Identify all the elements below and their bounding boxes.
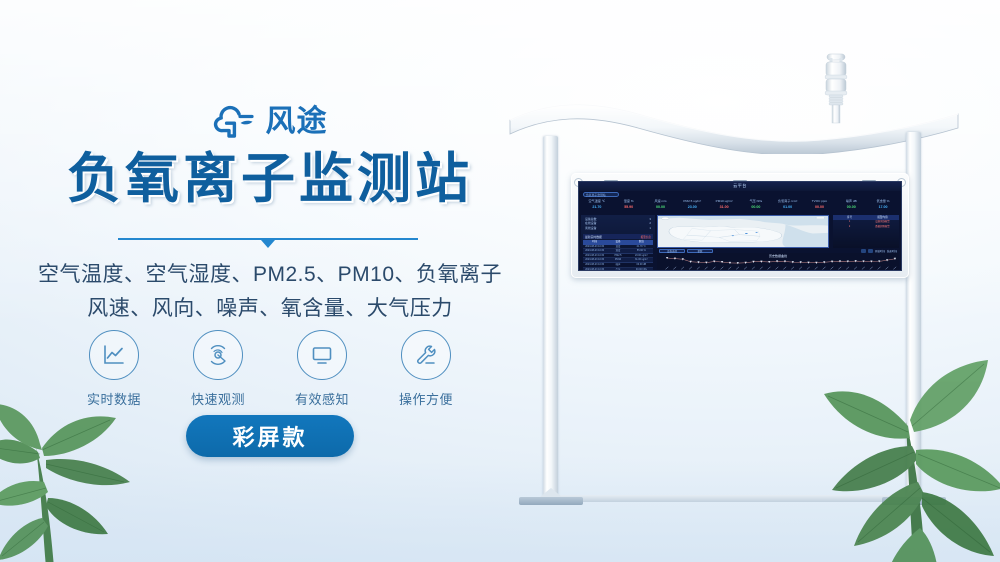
chart-tick <box>681 267 684 270</box>
monitor-screen-icon <box>309 342 335 368</box>
table-cell: 2023-08-23 10:30 <box>583 254 606 258</box>
stat-item: PM10 ug/m³31.00 <box>708 199 740 213</box>
stat-value: 00.00 <box>740 204 772 210</box>
chart-tick <box>697 267 700 270</box>
stat-value: 31.00 <box>708 204 740 210</box>
chart-title: 历史数据曲线 <box>769 254 787 258</box>
brand-logo: 风途 <box>0 100 540 144</box>
table-cell: 噪声 <box>606 263 629 267</box>
feature-icon-circle <box>297 330 347 380</box>
table-cell: 2023-08-23 10:30 <box>583 263 606 267</box>
stat-value: 17.00 <box>867 204 899 210</box>
chart-tick <box>665 267 668 270</box>
color-screen-model-button[interactable]: 彩屏款 <box>186 415 354 457</box>
hero-content: 风途 负氧离子监测站 空气温度、空气湿度、PM2.5、PM10、负氧离子 风速、… <box>0 0 540 562</box>
table-row[interactable]: 2023-08-23 10:30气压00.00 hPa <box>583 268 653 271</box>
chart-tick <box>720 267 723 270</box>
ground-rail <box>550 495 898 502</box>
left-panel: 设备总数3在线设备2离线设备1 最新实时数据 报警信息 时间设备数值 2023-… <box>581 215 655 248</box>
stat-item: 负氧离子 /cm³01.00 <box>772 199 804 213</box>
table-cell: 气压 <box>606 268 629 271</box>
stat-bar: 空气温度 ℃21.70湿度 %55.90风速 m/s00.00PM2.5 ug/… <box>581 199 899 213</box>
monitoring-station-kiosk: 云平台 负氧离子监测站 空气温度 ℃21.70湿度 %55.90风速 m/s00… <box>500 40 980 540</box>
subtitle-line-2: 风速、风向、噪声、氧含量、大气压力 <box>0 292 540 326</box>
feature-label: 快速观测 <box>182 389 254 408</box>
feature-label: 操作方便 <box>390 389 462 408</box>
stat-item: 气压 hPa00.00 <box>740 199 772 213</box>
chart-tick <box>838 267 841 270</box>
chart-tick <box>815 267 818 270</box>
chart-tick <box>760 267 763 270</box>
chart-tick <box>744 267 747 270</box>
alarm-label: 报警信息 <box>641 235 651 239</box>
stat-item: 噪声 dB00.00 <box>835 199 867 213</box>
table-body: 2023-08-23 10:30温度21.70 ℃2023-08-23 10:3… <box>581 245 655 271</box>
feature-item-easy-operation[interactable]: 操作方便 <box>390 330 462 408</box>
stat-item: 空气温度 ℃21.70 <box>581 199 613 213</box>
device-summary-row: 离线设备1 <box>585 226 651 230</box>
chart-tick <box>799 267 802 270</box>
chart-tick <box>823 267 826 270</box>
feature-item-effective-sensing[interactable]: 有效感知 <box>286 330 358 408</box>
subtitle-line-1: 空气温度、空气湿度、PM2.5、PM10、负氧离子 <box>0 258 540 292</box>
table-cell: 温度 <box>606 245 629 249</box>
feature-list: 实时数据 快速观测 <box>0 330 540 408</box>
display-screen[interactable]: 云平台 负氧离子监测站 空气温度 ℃21.70湿度 %55.90风速 m/s00… <box>578 181 902 271</box>
table-cell: 湿度 <box>606 249 629 253</box>
table-cell: 2023-08-23 10:30 <box>583 268 606 271</box>
chart-tick <box>893 267 896 270</box>
stat-item: 风速 m/s00.00 <box>645 199 677 213</box>
table-cell: 21.70 ℃ <box>630 245 653 249</box>
stat-value: 01.00 <box>772 204 804 210</box>
table-cell: 2023-08-23 10:30 <box>583 249 606 253</box>
chart-tick <box>775 267 778 270</box>
feature-icon-circle <box>401 330 451 380</box>
table-cell: 55.90 % <box>630 249 653 253</box>
station-selector[interactable]: 负氧离子监测站 <box>583 192 619 197</box>
table-cell: 00.00 hPa <box>630 268 653 271</box>
table-cell: 00.00 dB <box>630 263 653 267</box>
alarm-panel-body: 1设备离线报警2数据超限报警 <box>833 220 899 229</box>
chart-tick <box>783 267 786 270</box>
table-cell: 31.00 ug/m³ <box>630 258 653 262</box>
dashboard-title: 云平台 <box>733 183 747 189</box>
alarm-cell: 数据超限报警 <box>866 225 899 230</box>
s-curve-canopy <box>508 98 960 154</box>
history-line-chart[interactable]: 历史数据曲线 <box>657 253 899 270</box>
feature-icon-circle <box>89 330 139 380</box>
promo-banner: 风途 负氧离子监测站 空气温度、空气湿度、PM2.5、PM10、负氧离子 风速、… <box>0 0 1000 562</box>
radar-sensor-icon <box>205 342 231 368</box>
stat-item: 湿度 %55.90 <box>613 199 645 213</box>
chart-tick <box>830 267 833 270</box>
table-title: 最新实时数据 <box>585 235 602 239</box>
title-divider <box>118 238 418 240</box>
feature-label: 有效感知 <box>286 389 358 408</box>
chart-tick <box>689 267 692 270</box>
china-map[interactable] <box>657 215 829 248</box>
chart-tick <box>846 267 849 270</box>
chart-tick <box>854 267 857 270</box>
line-chart-icon <box>101 342 127 368</box>
chart-tick <box>768 267 771 270</box>
chart-tick <box>705 267 708 270</box>
device-summary: 设备总数3在线设备2离线设备1 <box>581 215 655 232</box>
support-post-left <box>543 136 558 496</box>
stat-value: 23.00 <box>676 204 708 210</box>
dashboard-ui[interactable]: 云平台 负氧离子监测站 空气温度 ℃21.70湿度 %55.90风速 m/s00… <box>578 181 902 271</box>
stat-item: 氧含量 %17.00 <box>867 199 899 213</box>
page-title: 负氧离子监测站 <box>0 150 540 208</box>
table-header-bar: 最新实时数据 报警信息 <box>583 234 653 239</box>
table-cell: 2023-08-23 10:30 <box>583 258 606 262</box>
wrench-icon <box>413 342 439 368</box>
feature-icon-circle <box>193 330 243 380</box>
chart-tick <box>673 267 676 270</box>
hero-subtitle: 空气温度、空气湿度、PM2.5、PM10、负氧离子 风速、风向、噪声、氧含量、大… <box>0 258 540 326</box>
brand-name: 风途 <box>266 107 328 137</box>
chart-tick <box>736 267 739 270</box>
table-cell: 23.00 ug/m³ <box>630 254 653 258</box>
chart-tick <box>870 267 873 270</box>
table-cell: PM2.5 <box>606 254 629 258</box>
table-cell: PM10 <box>606 258 629 262</box>
chart-tick <box>878 267 881 270</box>
chart-tick <box>807 267 810 270</box>
cloud-leaf-logo-icon <box>213 105 257 139</box>
alarm-row[interactable]: 2数据超限报警 <box>833 225 899 230</box>
feature-item-fast-observation[interactable]: 快速观测 <box>182 330 254 408</box>
feature-label: 实时数据 <box>78 389 150 408</box>
table-cell: 2023-08-23 10:30 <box>583 245 606 249</box>
base-plate-left <box>519 488 583 505</box>
stat-value: 00.00 <box>645 204 677 210</box>
chart-tick <box>862 267 865 270</box>
stat-value: 21.70 <box>581 204 613 210</box>
stat-item: TVOC ppm00.00 <box>804 199 836 213</box>
stat-item: PM2.5 ug/m³23.00 <box>676 199 708 213</box>
stat-value: 55.90 <box>613 204 645 210</box>
chart-tick <box>885 267 888 270</box>
chart-tick <box>752 267 755 270</box>
stat-value: 00.00 <box>835 204 867 210</box>
chart-tick <box>713 267 716 270</box>
chart-tick <box>791 267 794 270</box>
dashboard-header: 云平台 <box>579 182 901 191</box>
alarm-panel: 序号报警内容 1设备离线报警2数据超限报警 <box>833 215 899 248</box>
feature-item-realtime-data[interactable]: 实时数据 <box>78 330 150 408</box>
base-plate-right <box>882 488 946 505</box>
stat-value: 00.00 <box>804 204 836 210</box>
station-selector-label: 负氧离子监测站 <box>586 193 606 197</box>
alarm-cell: 2 <box>833 225 866 230</box>
chart-tick <box>728 267 731 270</box>
